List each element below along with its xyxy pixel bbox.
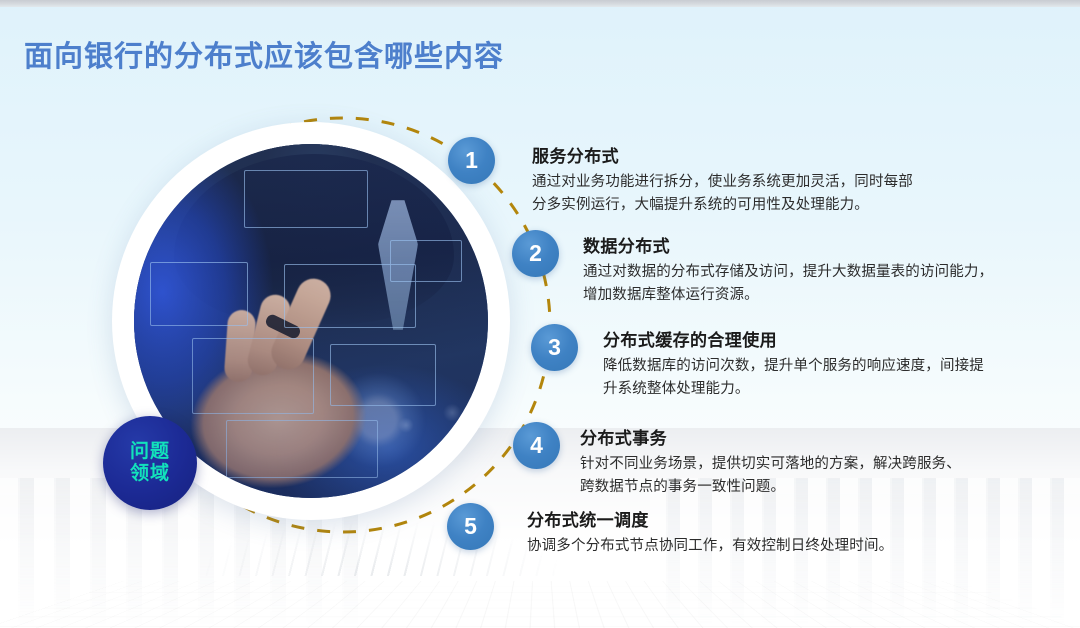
item-body-5: 协调多个分布式节点协同工作，有效控制日终处理时间。 bbox=[527, 535, 957, 558]
page-title: 面向银行的分布式应该包含哪些内容 bbox=[24, 33, 504, 75]
item-heading-4: 分布式事务 bbox=[580, 424, 1000, 449]
problem-domain-label-line2: 领域 bbox=[130, 463, 170, 485]
item-heading-5: 分布式统一调度 bbox=[527, 506, 957, 531]
item-body-3: 降低数据库的访问次数，提升单个服务的响应速度，间接提 升系统整体处理能力。 bbox=[603, 355, 1003, 402]
window-top-strip bbox=[0, 0, 1080, 7]
item-heading-1: 服务分布式 bbox=[532, 142, 962, 167]
item-body-1: 通过对业务功能进行拆分，使业务系统更加灵活，同时每部 分多实例运行，大幅提升系统… bbox=[532, 171, 962, 218]
item-heading-3: 分布式缓存的合理使用 bbox=[603, 326, 1003, 351]
item-number-badge-5[interactable]: 5 bbox=[447, 503, 494, 550]
slide: 面向银行的分布式应该包含哪些内容 问题 领域 bbox=[0, 0, 1080, 628]
problem-domain-badge: 问题 领域 bbox=[103, 416, 197, 510]
item-number-badge-2[interactable]: 2 bbox=[512, 230, 559, 277]
problem-domain-label-line1: 问题 bbox=[130, 441, 170, 463]
item-body-4: 针对不同业务场景，提供切实可落地的方案，解决跨服务、 跨数据节点的事务一致性问题… bbox=[580, 453, 1000, 500]
item-heading-2: 数据分布式 bbox=[583, 232, 1003, 257]
item-number-badge-4[interactable]: 4 bbox=[513, 422, 560, 469]
item-body-2: 通过对数据的分布式存储及访问，提升大数据量表的访问能力， 增加数据库整体运行资源… bbox=[583, 261, 1003, 308]
item-number-badge-1[interactable]: 1 bbox=[448, 137, 495, 184]
item-number-badge-3[interactable]: 3 bbox=[531, 324, 578, 371]
